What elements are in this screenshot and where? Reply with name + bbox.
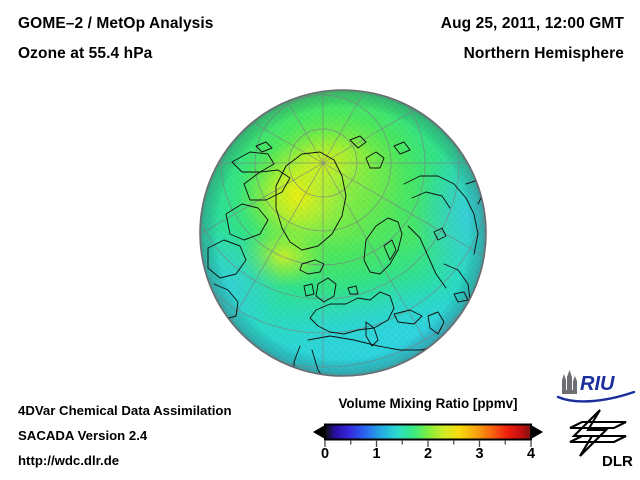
wdc-url-label[interactable]: http://wdc.dlr.de xyxy=(18,454,119,467)
version-label: SACADA Version 2.4 xyxy=(18,429,147,442)
colorbar-min-arrow xyxy=(313,425,325,439)
dlr-wordmark: DLR xyxy=(602,453,633,470)
colorbar-tick-labels: 0 1 2 3 4 xyxy=(308,446,548,468)
riu-wordmark: RIU xyxy=(580,373,615,395)
colorbar-tick-3: 3 xyxy=(475,446,483,462)
dlr-pinwheel-icon xyxy=(570,410,626,456)
riu-logo: RIU xyxy=(556,368,636,404)
analysis-title: GOME–2 / MetOp Analysis xyxy=(18,16,214,32)
colorbar: Volume Mixing Ratio [ppmv] xyxy=(308,396,548,476)
colorbar-title: Volume Mixing Ratio [ppmv] xyxy=(308,396,548,411)
colorbar-tick-4: 4 xyxy=(527,446,535,462)
colorbar-tick-2: 2 xyxy=(424,446,432,462)
riu-tower-icon xyxy=(562,370,577,394)
colorbar-scale xyxy=(308,415,548,449)
method-label: 4DVar Chemical Data Assimilation xyxy=(18,404,232,417)
dlr-logo: DLR xyxy=(566,408,638,470)
ozone-globe-map xyxy=(198,88,488,378)
region-label: Northern Hemisphere xyxy=(464,46,624,62)
colorbar-tick-1: 1 xyxy=(372,446,380,462)
datetime-label: Aug 25, 2011, 12:00 GMT xyxy=(441,16,624,32)
colorbar-tick-0: 0 xyxy=(321,446,329,462)
colorbar-max-arrow xyxy=(531,425,543,439)
quantity-subtitle: Ozone at 55.4 hPa xyxy=(18,46,152,62)
